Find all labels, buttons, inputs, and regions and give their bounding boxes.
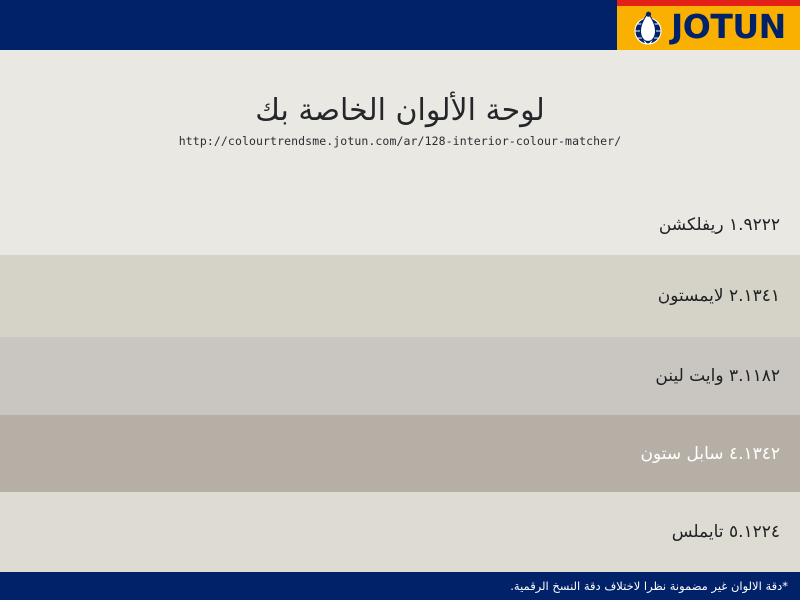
- colour-swatch-label: ٢.١٣٤١ لايمستون: [658, 286, 780, 306]
- colour-swatch-label: ١.٩٢٢٢ ريفلكشن: [659, 215, 780, 235]
- colour-palette-page: JOTUN لوحة الألوان الخاصة بك http://colo…: [0, 0, 800, 600]
- globe-droplet-icon: [629, 9, 667, 45]
- colour-swatch-label: ٣.١١٨٢ وايت لينن: [655, 366, 780, 386]
- jotun-wordmark: JOTUN: [671, 6, 797, 48]
- jotun-logo-block[interactable]: JOTUN: [617, 0, 800, 50]
- colour-accuracy-disclaimer: *دقة الالوان غير مضمونة نظرا لاختلاف دقة…: [510, 579, 788, 593]
- page-footer: *دقة الالوان غير مضمونة نظرا لاختلاف دقة…: [0, 572, 800, 600]
- title-area: لوحة الألوان الخاصة بك http://colourtren…: [0, 92, 800, 148]
- colour-swatch[interactable]: ١.٩٢٢٢ ريفلكشن: [0, 195, 800, 255]
- colour-swatch[interactable]: ٥.١٢٢٤ تايملس: [0, 492, 800, 572]
- colour-swatch-label: ٤.١٣٤٢ سابل ستون: [640, 444, 780, 464]
- colour-swatch[interactable]: ٣.١١٨٢ وايت لينن: [0, 337, 800, 415]
- colour-swatch[interactable]: ٢.١٣٤١ لايمستون: [0, 255, 800, 337]
- page-url: http://colourtrendsme.jotun.com/ar/128-i…: [0, 134, 800, 148]
- colour-swatch-list: ١.٩٢٢٢ ريفلكشن٢.١٣٤١ لايمستون٣.١١٨٢ وايت…: [0, 195, 800, 572]
- page-header: JOTUN: [0, 0, 800, 50]
- colour-swatch[interactable]: ٤.١٣٤٢ سابل ستون: [0, 415, 800, 492]
- page-title: لوحة الألوان الخاصة بك: [0, 92, 800, 130]
- colour-swatch-label: ٥.١٢٢٤ تايملس: [672, 522, 780, 542]
